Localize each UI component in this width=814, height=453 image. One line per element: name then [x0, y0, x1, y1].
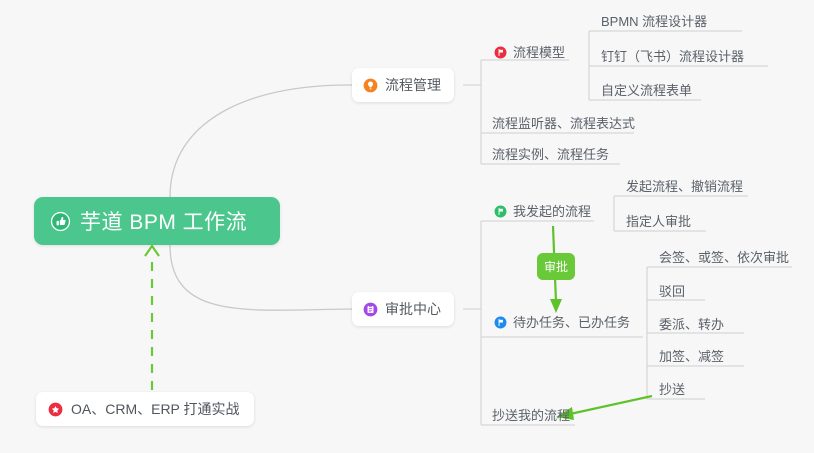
topic-label-carbon-copy: 抄送	[659, 381, 685, 398]
topic-process-model[interactable]: 流程模型	[494, 44, 565, 61]
topic-label-add-remove-sign: 加签、减签	[659, 348, 724, 365]
topic-label-reject: 驳回	[659, 283, 685, 300]
branch-label-process-management: 流程管理	[385, 75, 441, 95]
topic-label-instance-task: 流程实例、流程任务	[492, 146, 609, 163]
clipboard-circle-icon	[363, 302, 378, 317]
topic-dingtalk-feishu-designer[interactable]: 钉钉（飞书）流程设计器	[601, 48, 744, 65]
star-circle-icon	[48, 402, 63, 417]
flag-circle-icon	[494, 205, 507, 218]
lightbulb-circle-icon	[363, 78, 378, 93]
annotation-arrow-approval-head	[550, 299, 562, 313]
topic-label-process-model: 流程模型	[513, 44, 565, 61]
topic-assignee-approval[interactable]: 指定人审批	[626, 213, 691, 230]
thumbs-up-circle-icon	[50, 211, 71, 232]
topic-label-start-cancel-process: 发起流程、撤销流程	[626, 178, 743, 195]
root-label: 芋道 BPM 工作流	[80, 206, 247, 236]
topic-label-delegate-transfer: 委派、转办	[659, 316, 724, 333]
topic-reject[interactable]: 驳回	[659, 283, 685, 300]
topic-bpmn-designer[interactable]: BPMN 流程设计器	[601, 13, 707, 30]
topic-label-bpmn-designer: BPMN 流程设计器	[601, 13, 707, 30]
branch-node-approval-center[interactable]: 审批中心	[352, 292, 454, 326]
topic-label-assignee-approval: 指定人审批	[626, 213, 691, 230]
mindmap-canvas: 芋道 BPM 工作流 流程管理 审批中心 流程模型 流程监	[0, 0, 814, 453]
topic-start-cancel-process[interactable]: 发起流程、撤销流程	[626, 178, 743, 195]
branch-label-approval-center: 审批中心	[385, 299, 441, 319]
callout-card[interactable]: OA、CRM、ERP 打通实战	[36, 392, 254, 426]
topic-instance-task[interactable]: 流程实例、流程任务	[492, 146, 609, 163]
annotation-badge-approval-label: 审批	[544, 258, 568, 275]
annotation-arrow-cc	[570, 396, 652, 414]
topic-label-todo-done-tasks: 待办任务、已办任务	[513, 314, 630, 331]
flag-circle-icon	[494, 46, 507, 59]
annotation-arrow-callout-head	[145, 246, 159, 256]
topic-add-remove-sign[interactable]: 加签、减签	[659, 348, 724, 365]
topic-label-my-initiated: 我发起的流程	[513, 203, 591, 220]
branch-node-process-management[interactable]: 流程管理	[352, 68, 454, 102]
topic-label-dingtalk-feishu-designer: 钉钉（飞书）流程设计器	[601, 48, 744, 65]
topic-label-multi-sign-modes: 会签、或签、依次审批	[659, 249, 789, 266]
edge-root-to-process-management	[170, 85, 352, 197]
topic-carbon-copy[interactable]: 抄送	[659, 381, 685, 398]
topic-delegate-transfer[interactable]: 委派、转办	[659, 316, 724, 333]
topic-todo-done-tasks[interactable]: 待办任务、已办任务	[494, 314, 630, 331]
topic-label-cc-to-me: 抄送我的流程	[492, 407, 570, 424]
callout-label: OA、CRM、ERP 打通实战	[71, 399, 240, 419]
topic-custom-process-form[interactable]: 自定义流程表单	[601, 82, 692, 99]
flag-circle-icon	[494, 316, 507, 329]
topic-my-initiated[interactable]: 我发起的流程	[494, 203, 591, 220]
annotation-badge-approval: 审批	[537, 253, 575, 280]
topic-multi-sign-modes[interactable]: 会签、或签、依次审批	[659, 249, 789, 266]
topic-cc-to-me[interactable]: 抄送我的流程	[492, 407, 570, 424]
root-node[interactable]: 芋道 BPM 工作流	[34, 197, 280, 245]
edge-root-to-approval-center	[170, 245, 352, 310]
topic-label-listener-expression: 流程监听器、流程表达式	[492, 115, 635, 132]
topic-listener-expression[interactable]: 流程监听器、流程表达式	[492, 115, 635, 132]
topic-label-custom-process-form: 自定义流程表单	[601, 82, 692, 99]
